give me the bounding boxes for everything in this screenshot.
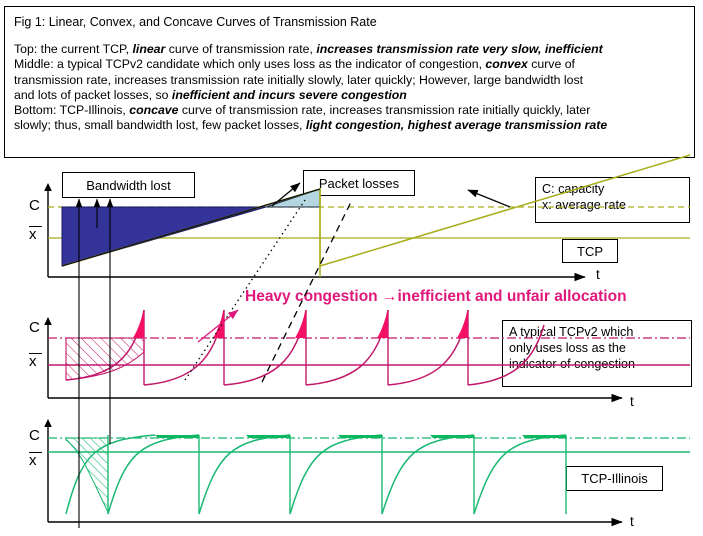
middle-cycle-5 bbox=[388, 310, 468, 385]
middle-cycle-4 bbox=[306, 310, 388, 385]
middle-y-axis-arrow bbox=[44, 317, 52, 325]
bottom-chart-group bbox=[44, 419, 690, 522]
bottom-concave-cycles bbox=[66, 435, 566, 514]
bottom-cycle-6 bbox=[474, 435, 566, 514]
bottom-cycle-3 bbox=[199, 435, 290, 514]
figure-drawing bbox=[0, 0, 703, 536]
middle-cycle-2 bbox=[144, 310, 224, 385]
bottom-bandwidth-lost-hatch bbox=[66, 438, 108, 512]
middle-cycle-3 bbox=[224, 310, 306, 385]
packet-loss-arrow-top2 bbox=[468, 190, 510, 207]
bottom-packet-loss-slivers bbox=[155, 435, 566, 438]
bottom-cycle-4 bbox=[290, 435, 382, 514]
bottom-y-axis-arrow bbox=[44, 419, 52, 427]
middle-chart-group bbox=[44, 310, 690, 398]
bottom-cycle-drops bbox=[108, 435, 566, 514]
bottom-cycle-5 bbox=[382, 435, 474, 514]
top-y-axis-arrow bbox=[44, 183, 52, 191]
figure-page: Fig 1: Linear, Convex, and Concave Curve… bbox=[0, 0, 703, 536]
middle-packet-loss-triangles bbox=[133, 310, 468, 338]
bottom-cycle-2 bbox=[108, 435, 199, 514]
packet-loss-arrow-dotted bbox=[185, 200, 305, 380]
middle-cycle-6 bbox=[468, 325, 544, 385]
packet-loss-arrow-dashed bbox=[262, 200, 352, 382]
top-chart-group bbox=[44, 155, 690, 277]
